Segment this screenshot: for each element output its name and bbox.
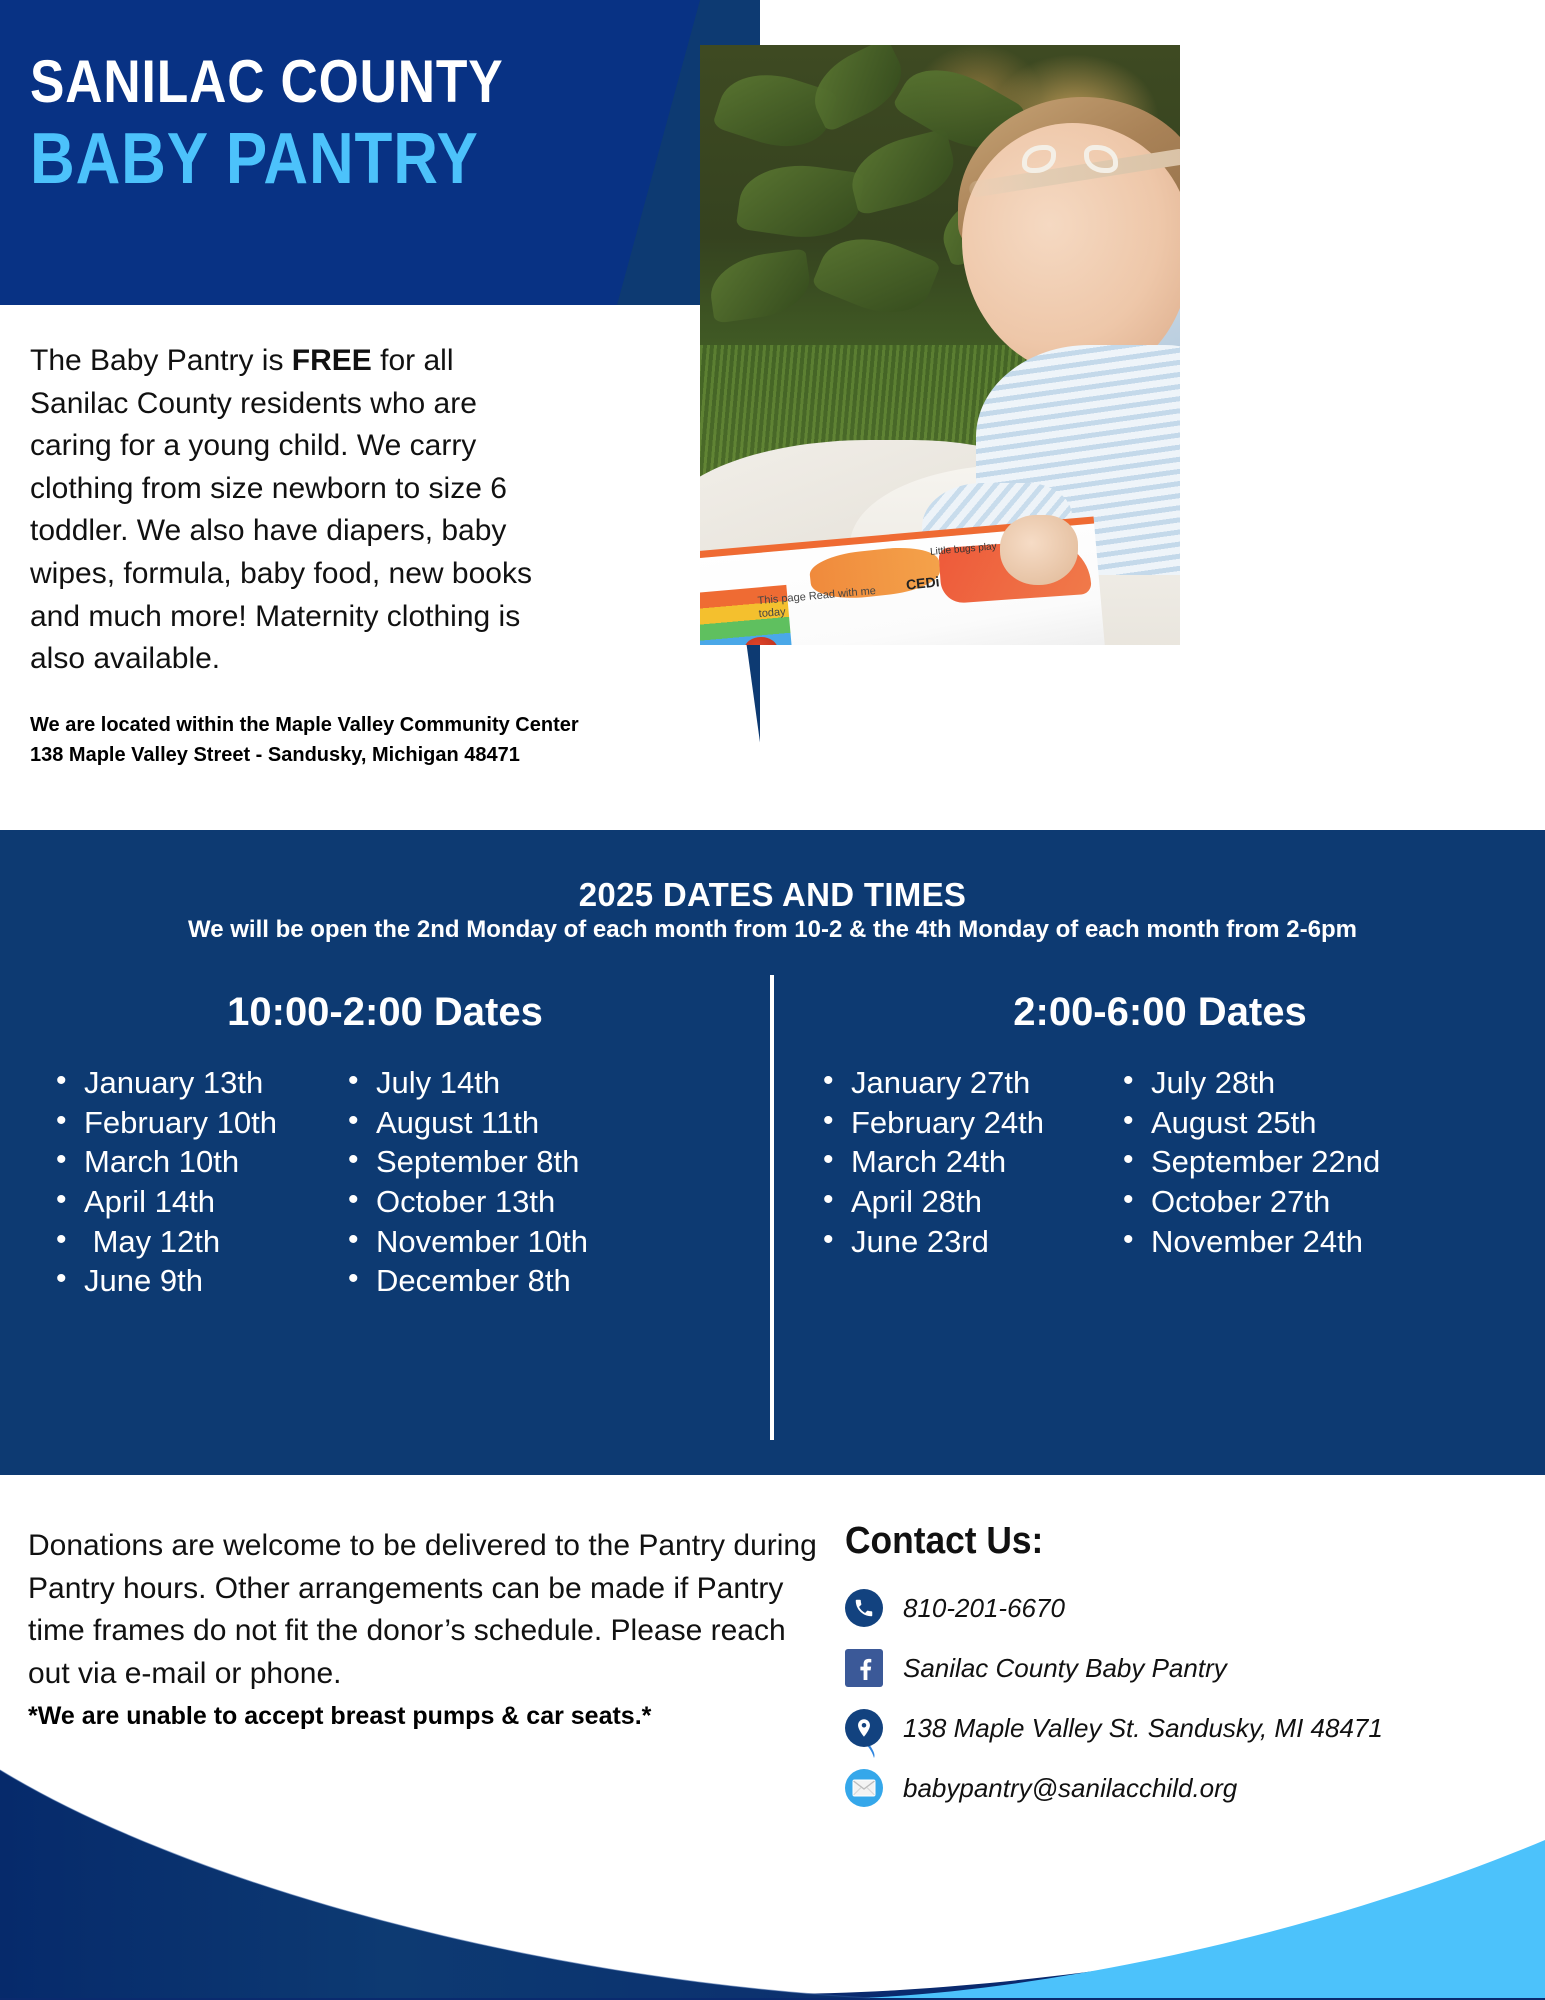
list-item: July 14th — [340, 1063, 660, 1103]
list-item: August 25th — [1115, 1103, 1435, 1143]
list-item: October 13th — [340, 1182, 660, 1222]
afternoon-dates-group: 2:00-6:00 Dates January 27th February 24… — [775, 990, 1545, 1261]
facebook-icon — [845, 1649, 883, 1687]
location-pin-icon — [845, 1709, 883, 1747]
flyer-header: SANILAC COUNTY BABY PANTRY — [0, 0, 700, 198]
contact-title: Contact Us: — [845, 1520, 1477, 1563]
list-item: May 12th — [48, 1222, 330, 1262]
list-item: September 22nd — [1115, 1142, 1435, 1182]
morning-dates-column-1: January 13th February 10th March 10th Ap… — [0, 1063, 330, 1301]
header-title-pantry: BABY PANTRY — [30, 122, 606, 198]
contact-row-address[interactable]: 138 Maple Valley St. Sandusky, MI 48471 — [845, 1709, 1525, 1747]
list-item: December 8th — [340, 1261, 660, 1301]
donations-block: Donations are welcome to be delivered to… — [28, 1525, 818, 1735]
donations-restriction-note: *We are unable to accept breast pumps & … — [28, 1699, 818, 1735]
dates-column-divider — [770, 975, 774, 1440]
location-line-1: We are located within the Maple Valley C… — [30, 710, 650, 740]
list-item: January 27th — [815, 1063, 1105, 1103]
list-item: June 9th — [48, 1261, 330, 1301]
street-address: 138 Maple Valley St. Sandusky, MI 48471 — [903, 1713, 1383, 1744]
donations-text: Donations are welcome to be delivered to… — [28, 1529, 817, 1690]
header-title-county: SANILAC COUNTY — [30, 52, 606, 112]
facebook-page-name: Sanilac County Baby Pantry — [903, 1653, 1227, 1684]
afternoon-dates-column-2: July 28th August 25th September 22nd Oct… — [1105, 1063, 1435, 1261]
list-item: July 28th — [1115, 1063, 1435, 1103]
morning-dates-group: 10:00-2:00 Dates January 13th February 1… — [0, 990, 770, 1301]
list-item: February 10th — [48, 1103, 330, 1143]
email-icon — [845, 1769, 883, 1807]
list-item: March 10th — [48, 1142, 330, 1182]
afternoon-dates-column-1: January 27th February 24th March 24th Ap… — [775, 1063, 1105, 1261]
intro-paragraph: The Baby Pantry is FREE for all Sanilac … — [30, 340, 550, 681]
list-item: January 13th — [48, 1063, 330, 1103]
list-item: April 28th — [815, 1182, 1105, 1222]
phone-icon — [845, 1589, 883, 1627]
dates-section-title: 2025 DATES AND TIMES — [0, 876, 1545, 914]
intro-text-before: The Baby Pantry is — [30, 344, 292, 377]
list-item: June 23rd — [815, 1222, 1105, 1262]
contact-row-email[interactable]: babypantry@sanilacchild.org — [845, 1769, 1525, 1807]
list-item: August 11th — [340, 1103, 660, 1143]
email-address: babypantry@sanilacchild.org — [903, 1773, 1237, 1804]
contact-row-facebook[interactable]: Sanilac County Baby Pantry — [845, 1649, 1525, 1687]
list-item: September 8th — [340, 1142, 660, 1182]
contact-block: Contact Us: 810-201-6670 Sanilac County … — [845, 1520, 1525, 1829]
intro-free-emphasis: FREE — [292, 344, 372, 377]
list-item: February 24th — [815, 1103, 1105, 1143]
phone-number: 810-201-6670 — [903, 1593, 1065, 1624]
list-item: October 27th — [1115, 1182, 1435, 1222]
location-block: We are located within the Maple Valley C… — [30, 710, 650, 770]
morning-dates-column-2: July 14th August 11th September 8th Octo… — [330, 1063, 660, 1301]
intro-text-after: for all Sanilac County residents who are… — [30, 344, 532, 675]
contact-row-phone[interactable]: 810-201-6670 — [845, 1589, 1525, 1627]
location-line-2: 138 Maple Valley Street - Sandusky, Mich… — [30, 740, 650, 770]
dates-section-subtitle: We will be open the 2nd Monday of each m… — [0, 916, 1545, 944]
list-item: November 10th — [340, 1222, 660, 1262]
list-item: March 24th — [815, 1142, 1105, 1182]
baby-reading-book-photo: This page Read with me today CEDi Little… — [700, 45, 1180, 645]
list-item: April 14th — [48, 1182, 330, 1222]
hair-bow-icon — [1022, 145, 1118, 179]
afternoon-dates-heading: 2:00-6:00 Dates — [775, 990, 1545, 1035]
list-item: November 24th — [1115, 1222, 1435, 1262]
morning-dates-heading: 10:00-2:00 Dates — [0, 990, 770, 1035]
